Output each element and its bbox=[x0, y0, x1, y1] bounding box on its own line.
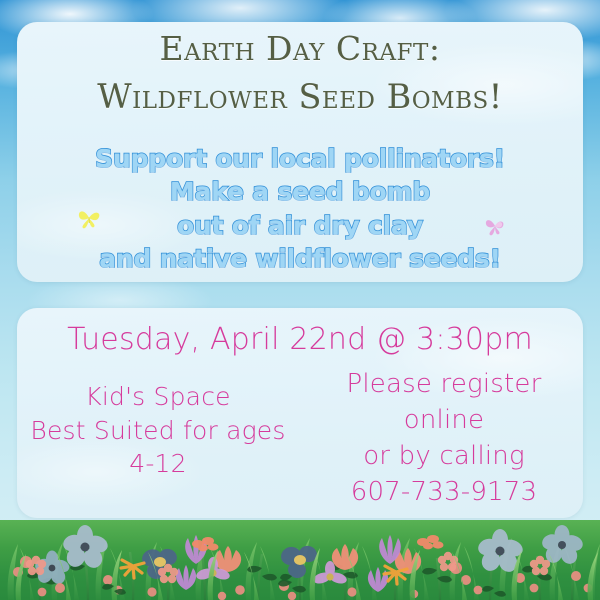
flower-border-art bbox=[0, 504, 600, 600]
headline-line-1: Earth Day Craft: bbox=[17, 26, 583, 73]
wildflower-meadow-border bbox=[0, 504, 600, 600]
registration-details: Please register online or by calling 607… bbox=[306, 366, 582, 511]
page-title: Earth Day Craft: Wildflower Seed Bombs! bbox=[17, 26, 583, 120]
registration-line-2: online bbox=[306, 402, 582, 438]
butterfly-icon-pink bbox=[483, 214, 507, 238]
audience-line-2: Best Suited for ages bbox=[20, 414, 296, 448]
event-date-time: Tuesday, April 22nd @ 3:30pm bbox=[17, 322, 583, 357]
registration-line-3: or by calling bbox=[306, 438, 582, 474]
audience-line-3: 4-12 bbox=[20, 447, 296, 481]
description-line-2: Make a seed bomb bbox=[17, 175, 583, 208]
audience-line-1: Kid's Space bbox=[20, 380, 296, 414]
butterfly-icon-yellow bbox=[76, 206, 102, 230]
description-line-4: and native wildflower seeds! bbox=[17, 242, 583, 275]
headline-line-2: Wildflower Seed Bombs! bbox=[17, 73, 583, 121]
description-line-1: Support our local pollinators! bbox=[17, 142, 583, 175]
audience-details: Kid's Space Best Suited for ages 4-12 bbox=[20, 380, 296, 481]
poster-canvas: Earth Day Craft: Wildflower Seed Bombs! … bbox=[0, 0, 600, 600]
registration-line-1: Please register bbox=[306, 366, 582, 402]
